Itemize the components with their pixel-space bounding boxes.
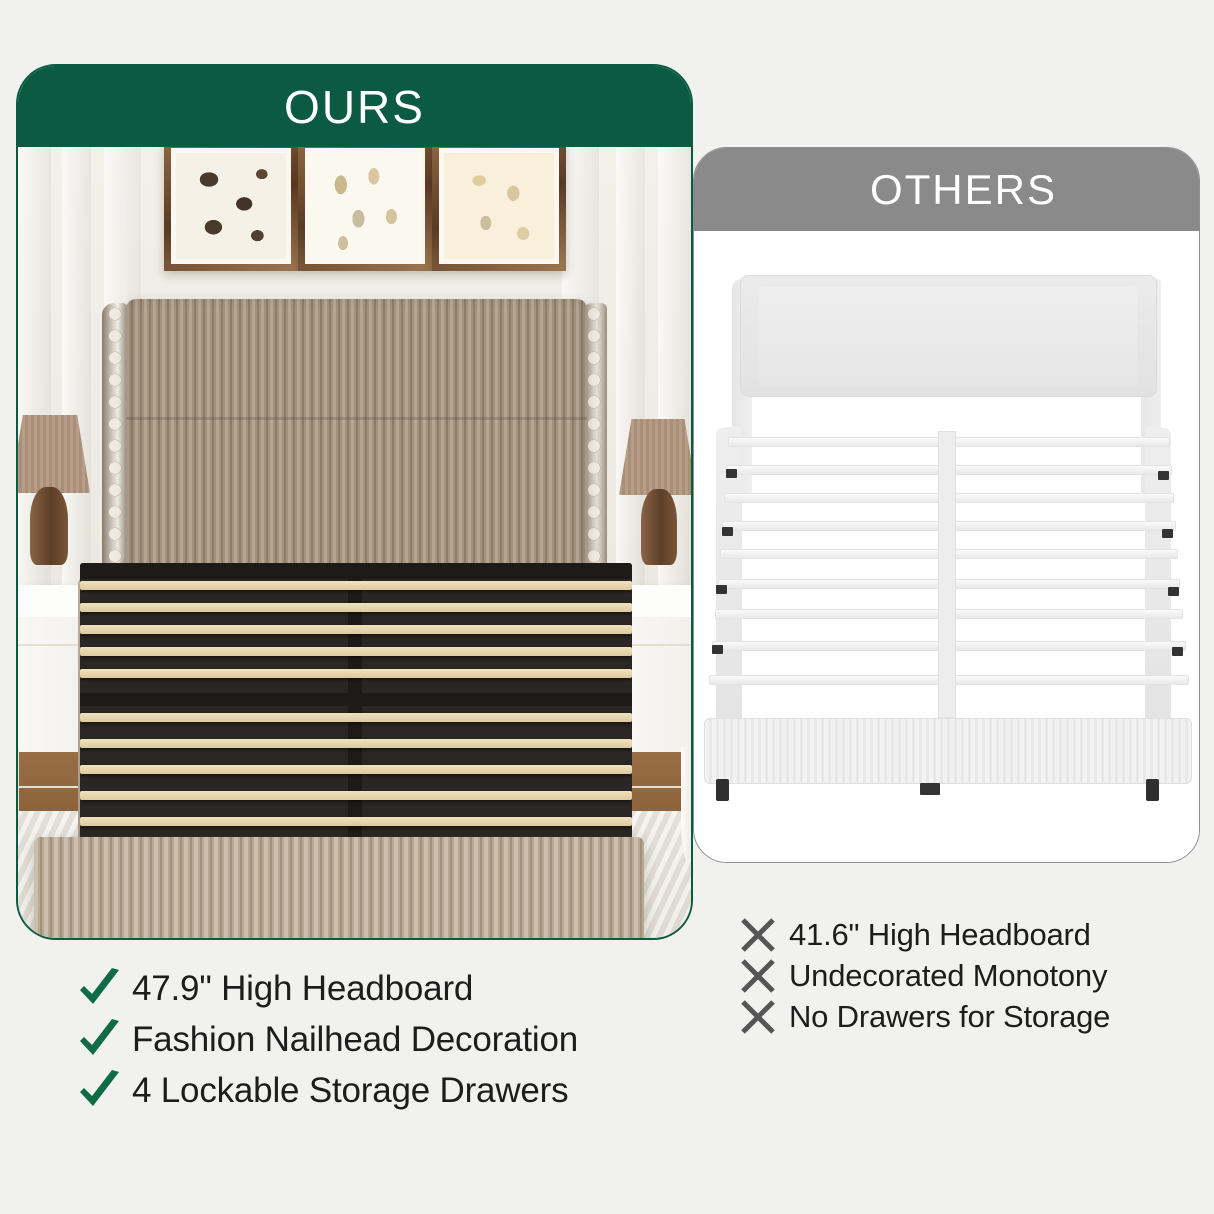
ours-panel: OURS (16, 64, 693, 940)
slat-deck (80, 563, 632, 845)
comparison-infographic: OTHERS (0, 0, 1214, 1214)
check-icon (76, 968, 122, 1010)
feature-label: Undecorated Monotony (789, 959, 1107, 992)
x-icon (740, 1000, 776, 1034)
feature-label: Fashion Nailhead Decoration (132, 1021, 578, 1059)
storage-drawer-front (34, 837, 644, 940)
feature-label: 4 Lockable Storage Drawers (132, 1072, 568, 1110)
feature-label: No Drawers for Storage (789, 1000, 1110, 1033)
others-header-bar: OTHERS (694, 148, 1199, 231)
list-item: No Drawers for Storage (740, 1000, 1200, 1034)
others-product-photo (694, 231, 1199, 863)
ours-header-bar: OURS (18, 66, 691, 147)
list-item: 41.6" High Headboard (740, 918, 1200, 952)
others-panel: OTHERS (693, 147, 1200, 863)
check-icon (76, 1070, 122, 1112)
check-icon (76, 1019, 122, 1061)
ours-bed (18, 147, 691, 940)
list-item: Undecorated Monotony (740, 959, 1200, 993)
feature-label: 41.6" High Headboard (789, 918, 1091, 951)
ours-feature-list: 47.9" High Headboard Fashion Nailhead De… (76, 968, 676, 1121)
channel-tufted-headboard (126, 299, 587, 589)
list-item: 4 Lockable Storage Drawers (76, 1070, 676, 1112)
others-header-label: OTHERS (836, 169, 1057, 211)
x-icon (740, 918, 776, 952)
ours-header-label: OURS (284, 84, 425, 130)
list-item: Fashion Nailhead Decoration (76, 1019, 676, 1061)
others-feature-list: 41.6" High Headboard Undecorated Monoton… (740, 918, 1200, 1041)
feature-label: 47.9" High Headboard (132, 970, 473, 1008)
x-icon (740, 959, 776, 993)
ours-product-photo (18, 147, 691, 940)
list-item: 47.9" High Headboard (76, 968, 676, 1010)
